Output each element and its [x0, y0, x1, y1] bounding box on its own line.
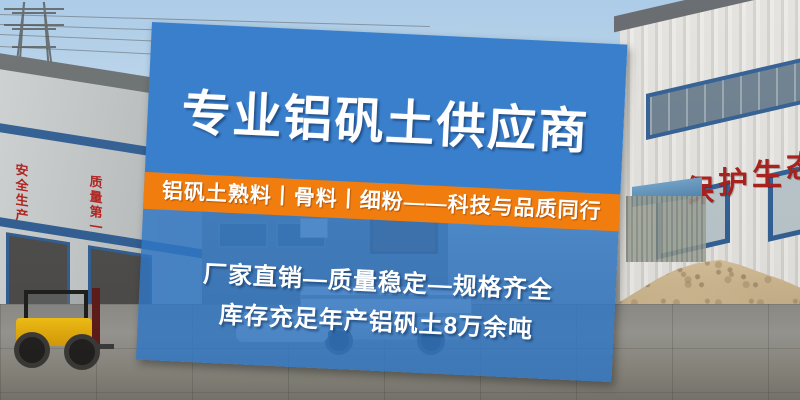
promo-panel: 专业铝矾土供应商 铝矾土熟料丨骨料丨细粉——科技与品质同行 厂家直销—质量稳定—…	[152, 22, 628, 384]
left-sign-text: 安全生产	[14, 161, 30, 224]
subheadline-line-2: 库存充足年产铝矾土8万余吨	[138, 300, 615, 347]
clerestory-window-band	[646, 37, 800, 140]
yellow-forklift	[6, 288, 110, 362]
banner-image: 安全生产 质量第一 保 护 生 态	[0, 0, 800, 400]
left-sign-text: 质量第一	[88, 173, 104, 236]
right-sign-text: 护	[718, 158, 748, 202]
right-sign-text: 态	[786, 142, 800, 186]
right-sign-text: 生	[752, 150, 782, 194]
headline: 专业铝矾土供应商	[147, 88, 625, 160]
promo-text-layer: 专业铝矾土供应商 铝矾土熟料丨骨料丨细粉——科技与品质同行 厂家直销—质量稳定—…	[136, 22, 628, 382]
metal-fence	[626, 196, 706, 262]
orange-band-text: 铝矾土熟料丨骨料丨细粉——科技与品质同行	[143, 177, 620, 227]
subheadline-line-1: 厂家直销—质量稳定—规格齐全	[140, 260, 617, 307]
